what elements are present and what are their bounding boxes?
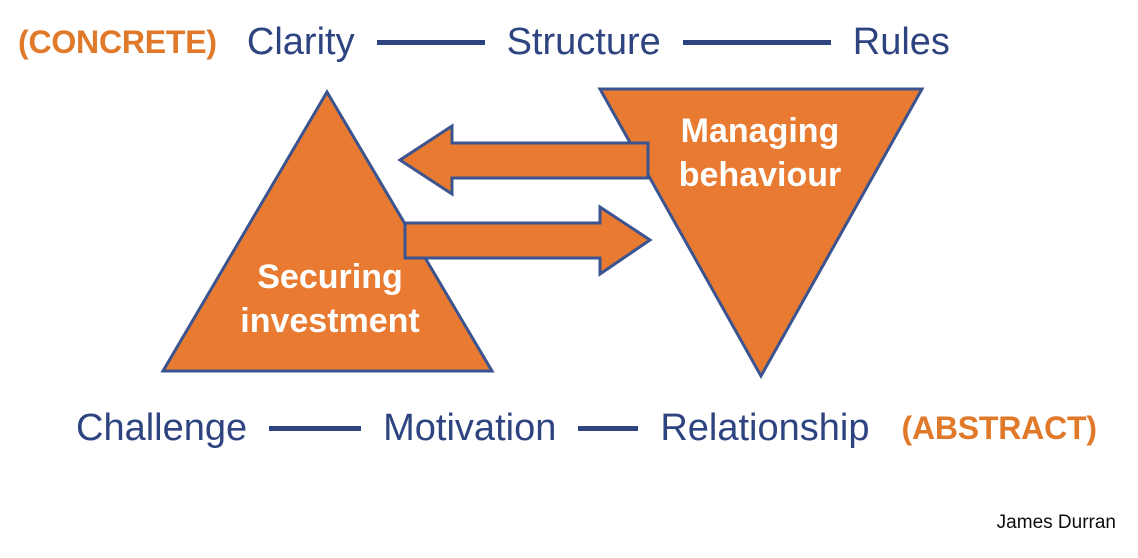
managing-behaviour-label: Managing behaviour	[605, 110, 915, 197]
connector-motivation-relationship	[578, 426, 638, 431]
bottom-axis-row: Challenge Motivation Relationship (ABSTR…	[0, 400, 1138, 456]
abstract-pole-label: (ABSTRACT)	[901, 410, 1096, 447]
shapes-layer	[0, 0, 1138, 558]
axis-node-challenge: Challenge	[76, 407, 247, 450]
securing-investment-label-line2: investment	[175, 300, 485, 344]
author-credit: James Durran	[997, 512, 1116, 534]
securing-investment-label: Securing investment	[175, 256, 485, 343]
managing-behaviour-label-line1: Managing	[605, 110, 915, 154]
securing-investment-label-line1: Securing	[175, 256, 485, 300]
diagram-canvas: (CONCRETE) Clarity Structure Rules Secur…	[0, 0, 1138, 558]
managing-behaviour-label-line2: behaviour	[605, 154, 915, 198]
axis-node-motivation: Motivation	[383, 407, 556, 450]
connector-challenge-motivation	[269, 426, 361, 431]
axis-node-relationship: Relationship	[660, 407, 869, 450]
